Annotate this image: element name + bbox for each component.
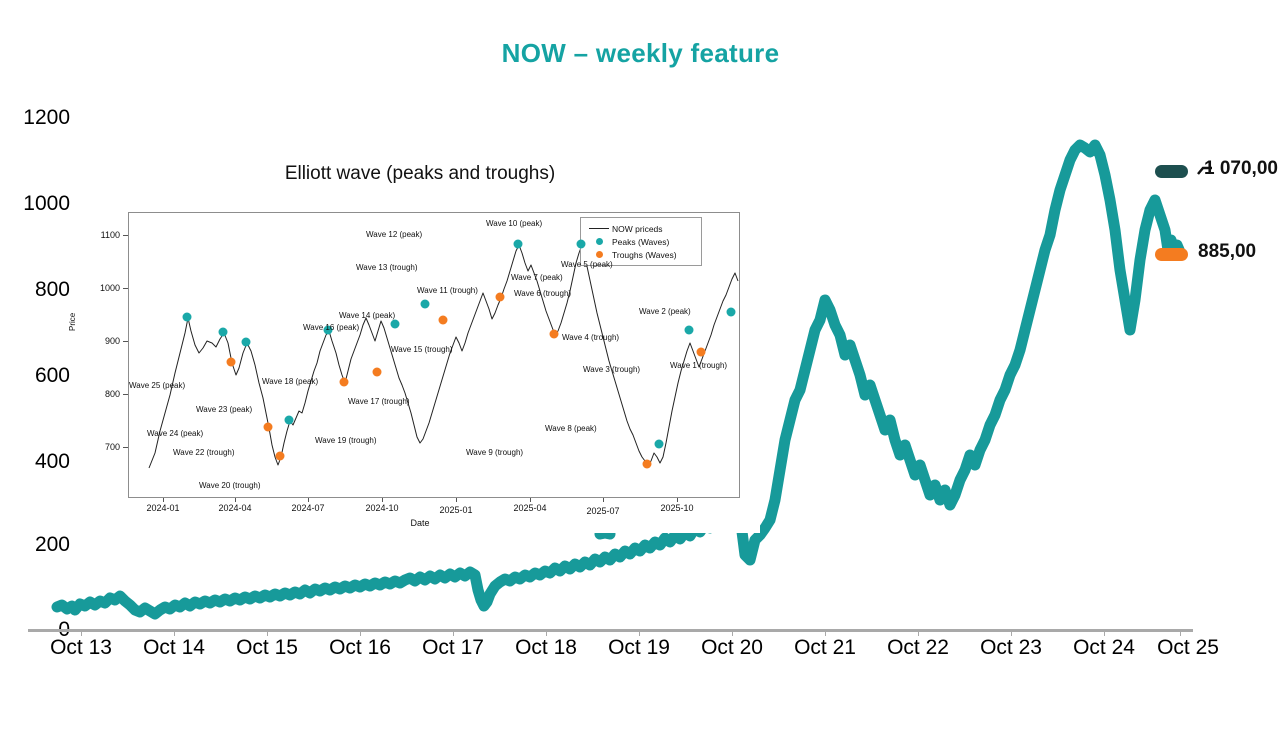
wave-label-23: Wave 23 (peak): [196, 405, 252, 414]
teal-dot-icon: [586, 238, 612, 245]
wave-label-25: Wave 25 (peak): [129, 381, 185, 390]
inset-ytick-1100: 1100: [80, 230, 120, 240]
legend-label-price: NOW priceds: [612, 224, 663, 234]
dark-teal-marker: [1155, 165, 1188, 178]
wave-label-15: Wave 15 (trough): [391, 345, 453, 354]
x-axis-label-oct-25: Oct 25: [1133, 636, 1243, 660]
x-axis-tick: [918, 629, 919, 636]
orange-marker: [1155, 248, 1188, 261]
x-axis-tick: [267, 629, 268, 636]
inset-xtick-2025-10: 2025-10: [647, 503, 707, 513]
line-icon: [586, 228, 612, 229]
wave-label-18: Wave 18 (peak): [262, 377, 318, 386]
x-axis-tick: [1180, 629, 1181, 636]
main-ytick-1000: 1000: [0, 192, 70, 216]
x-axis-tick: [453, 629, 454, 636]
inset-xtick-2024-07: 2024-07: [278, 503, 338, 513]
price-tag-high: 1 070,00: [1204, 158, 1278, 180]
x-axis-tick: [732, 629, 733, 636]
legend-label-peaks: Peaks (Waves): [612, 237, 669, 247]
x-axis-tick: [81, 629, 82, 636]
inset-xtick-2025-01: 2025-01: [426, 505, 486, 515]
main-ytick-200: 200: [0, 533, 70, 557]
inset-ytick-1000: 1000: [80, 283, 120, 293]
wave-label-7: Wave 7 (peak): [511, 273, 563, 282]
inset-xtick-2024-04: 2024-04: [205, 503, 265, 513]
inset-ytick-900: 900: [80, 336, 120, 346]
wave-label-11: Wave 11 (trough): [417, 286, 478, 295]
x-axis-tick: [174, 629, 175, 636]
wave-label-22: Wave 22 (trough): [173, 448, 235, 457]
wave-label-20: Wave 20 (trough): [199, 481, 261, 490]
wave-label-12: Wave 12 (peak): [366, 230, 422, 239]
inset-xtick-2024-01: 2024-01: [133, 503, 193, 513]
inset-y-axis-label: Price: [68, 313, 77, 331]
wave-label-6: Wave 6 (trough): [514, 289, 571, 298]
inset-xtick-2025-04: 2025-04: [500, 503, 560, 513]
legend-row-price: NOW priceds: [586, 222, 696, 235]
wave-label-24: Wave 24 (peak): [147, 429, 203, 438]
wave-label-13: Wave 13 (trough): [356, 263, 418, 272]
legend-label-troughs: Troughs (Waves): [612, 250, 677, 260]
x-axis-tick: [825, 629, 826, 636]
wave-label-8: Wave 8 (peak): [545, 424, 597, 433]
main-ytick-400: 400: [0, 450, 70, 474]
wave-label-19: Wave 19 (trough): [315, 436, 377, 445]
inset-ytick-700: 700: [80, 442, 120, 452]
price-tag-last: 885,00: [1198, 241, 1256, 263]
wave-label-3: Wave 3 (trough): [583, 365, 640, 374]
inset-ytick-800: 800: [80, 389, 120, 399]
inset-xtick-2024-10: 2024-10: [352, 503, 412, 513]
wave-label-2: Wave 2 (peak): [639, 307, 691, 316]
inset-title: Elliott wave (peaks and troughs): [80, 163, 760, 185]
x-axis-tick: [1011, 629, 1012, 636]
main-price-series-occluded-top: [600, 533, 610, 534]
inset-price-line: [149, 245, 738, 468]
main-ytick-600: 600: [0, 364, 70, 388]
wave-label-17: Wave 17 (trough): [348, 397, 410, 406]
x-axis-tick: [546, 629, 547, 636]
main-ytick-800: 800: [0, 278, 70, 302]
wave-label-9: Wave 9 (trough): [466, 448, 523, 457]
wave-label-16: Wave 16 (peak): [303, 323, 359, 332]
x-axis-tick: [360, 629, 361, 636]
wave-label-1: Wave 1 (trough): [670, 361, 727, 370]
legend-row-peaks: Peaks (Waves): [586, 235, 696, 248]
wave-label-4: Wave 4 (trough): [562, 333, 619, 342]
x-axis-tick: [1104, 629, 1105, 636]
orange-dot-icon: [586, 251, 612, 258]
x-axis-tick: [639, 629, 640, 636]
wave-label-14: Wave 14 (peak): [339, 311, 395, 320]
wave-label-5: Wave 5 (peak): [561, 260, 613, 269]
inset-legend: NOW priceds Peaks (Waves) Troughs (Waves…: [580, 217, 702, 266]
main-ytick-1200: 1200: [0, 106, 70, 130]
x-axis-line: [28, 629, 1193, 632]
inset-xtick-2025-07: 2025-07: [573, 506, 633, 516]
inset-x-axis-label: Date: [80, 518, 760, 528]
wave-label-10: Wave 10 (peak): [486, 219, 542, 228]
